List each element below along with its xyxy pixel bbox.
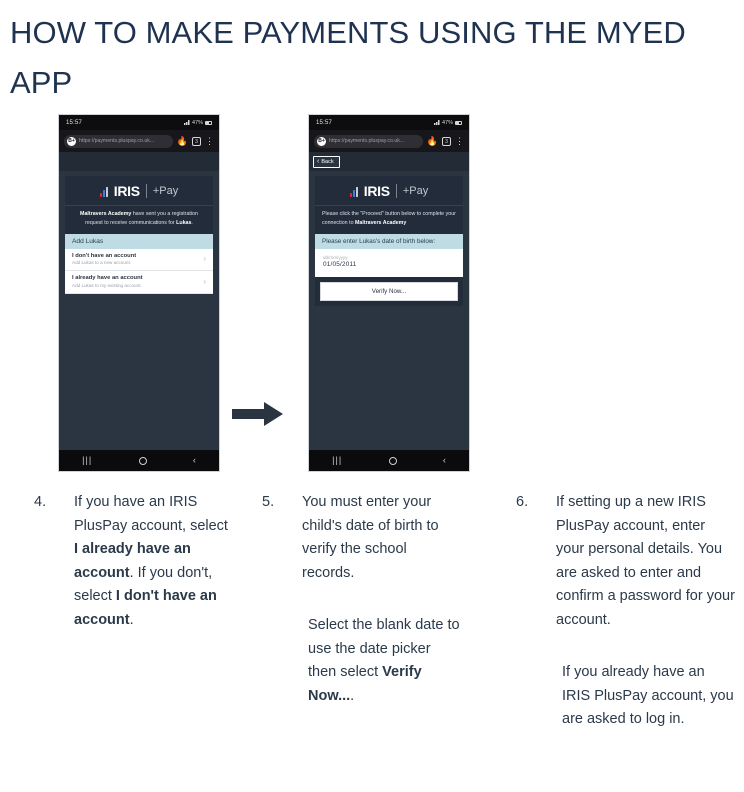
phone2-back-bar: ‹ Back	[309, 152, 469, 171]
caption-paragraph: Select the blank date to use the date pi…	[302, 614, 462, 708]
back-button-label: Back	[321, 159, 333, 165]
tab-count-icon[interactable]: 3	[442, 137, 451, 146]
caption-body: If you have an IRIS PlusPay account, sel…	[74, 491, 234, 632]
home-icon[interactable]	[139, 457, 147, 465]
caption-number: 4.	[34, 491, 74, 632]
phone1-notice-text: Maltravers Academy have sent you a regis…	[65, 205, 213, 233]
screenshot-figure-row: 15:57 47% B+ https://payments.pluspay.co…	[0, 114, 744, 479]
kebab-menu-icon[interactable]: ⋮	[455, 138, 464, 144]
dob-input-field[interactable]: dd/mm/yyyy 01/05/2011	[315, 249, 463, 277]
phone2-url-text: https://payments.pluspay.co.uk...	[329, 138, 404, 144]
phone2-notice-school: Maltravers Academy	[355, 220, 406, 226]
battery-icon	[205, 121, 212, 126]
list-item-subtitle: Add Lukas to a new account.	[72, 260, 136, 265]
captions-row: 4. If you have an IRIS PlusPay account, …	[0, 491, 744, 791]
flame-icon[interactable]: 🔥	[177, 137, 188, 146]
caption-text: .	[130, 612, 134, 628]
phone1-card: IRIS +Pay Maltravers Academy have sent y…	[65, 176, 213, 293]
caption-body: If setting up a new IRIS PlusPay account…	[556, 491, 736, 731]
phone1-spacer-bar	[59, 152, 219, 171]
logo-divider	[396, 184, 397, 198]
caption-number: 5.	[262, 491, 302, 708]
dob-prompt-label: Please enter Lukas's date of birth below…	[315, 234, 463, 249]
caption-paragraph: You must enter your child's date of birt…	[302, 491, 462, 585]
back-button[interactable]: ‹ Back	[313, 156, 340, 168]
phone-screenshot-2: 15:57 47% B+ https://payments.pluspay.co…	[308, 114, 470, 472]
iris-bars-icon	[350, 186, 358, 197]
list-item-no-account[interactable]: I don't have an account Add Lukas to a n…	[65, 249, 213, 272]
phone1-notice-child: Lukas	[176, 220, 191, 226]
phone2-android-nav-bar: ||| ‹	[309, 450, 469, 471]
back-icon[interactable]: ‹	[443, 456, 446, 465]
list-item-have-account[interactable]: I already have an account Add Lukas to m…	[65, 271, 213, 294]
tab-count-icon[interactable]: 3	[192, 137, 201, 146]
phone1-page-body: IRIS +Pay Maltravers Academy have sent y…	[59, 171, 219, 450]
caption-step-6: 6. If setting up a new IRIS PlusPay acco…	[516, 491, 736, 731]
signal-icon	[184, 120, 190, 125]
phone2-notice-text: Please click the "Proceed" button below …	[315, 205, 463, 233]
phone1-iris-logo: IRIS +Pay	[65, 176, 213, 205]
phone1-status-time: 15:57	[66, 120, 82, 126]
caption-body: You must enter your child's date of birt…	[302, 491, 462, 708]
recents-icon[interactable]: |||	[332, 456, 342, 465]
caption-number: 6.	[516, 491, 556, 731]
phone1-notice-end: .	[191, 220, 192, 226]
caption-text: If you already have an IRIS PlusPay acco…	[562, 664, 734, 727]
phone2-status-bar: 15:57 47%	[309, 115, 469, 130]
battery-icon	[455, 121, 462, 126]
phone1-notice-school: Maltravers Academy	[80, 211, 131, 217]
page-title: HOW TO MAKE PAYMENTS USING THE MYED APP	[0, 0, 690, 108]
logo-divider	[146, 184, 147, 198]
kebab-menu-icon[interactable]: ⋮	[205, 138, 214, 144]
phone1-android-nav-bar: ||| ‹	[59, 450, 219, 471]
caption-step-4: 4. If you have an IRIS PlusPay account, …	[34, 491, 234, 632]
verify-now-button[interactable]: Verify Now...	[320, 282, 458, 301]
home-icon[interactable]	[389, 457, 397, 465]
dob-value: 01/05/2011	[323, 261, 455, 268]
pluspay-wordmark: +Pay	[153, 185, 178, 197]
iris-wordmark: IRIS	[364, 183, 390, 199]
signal-icon	[434, 120, 440, 125]
site-favicon-icon: B+	[67, 137, 76, 146]
caption-text: If setting up a new IRIS PlusPay account…	[556, 494, 735, 627]
caption-step-5: 5. You must enter your child's date of b…	[262, 491, 462, 708]
phone2-battery-percent: 47%	[442, 120, 453, 126]
phone1-battery-percent: 47%	[192, 120, 203, 126]
list-item-title: I already have an account	[72, 275, 143, 281]
caption-paragraph: If you already have an IRIS PlusPay acco…	[556, 661, 736, 731]
caption-paragraph: If setting up a new IRIS PlusPay account…	[556, 491, 736, 632]
phone2-status-icons: 47%	[434, 120, 462, 126]
iris-wordmark: IRIS	[114, 183, 140, 199]
verify-button-container: Verify Now...	[315, 277, 463, 306]
iris-bars-icon	[100, 186, 108, 197]
caption-text: .	[350, 688, 354, 704]
right-arrow-icon	[232, 401, 284, 427]
phone2-browser-bar: B+ https://payments.pluspay.co.uk... 🔥 3…	[309, 130, 469, 152]
phone-screenshot-1: 15:57 47% B+ https://payments.pluspay.co…	[58, 114, 220, 472]
phone1-status-bar: 15:57 47%	[59, 115, 219, 130]
phone2-page-body: IRIS +Pay Please click the "Proceed" but…	[309, 171, 469, 450]
caption-paragraph: If you have an IRIS PlusPay account, sel…	[74, 491, 234, 632]
phone2-card: IRIS +Pay Please click the "Proceed" but…	[315, 176, 463, 305]
caption-text: If you have an IRIS PlusPay account, sel…	[74, 494, 228, 533]
caption-text: You must enter your child's date of birt…	[302, 494, 439, 580]
flame-icon[interactable]: 🔥	[427, 137, 438, 146]
phone2-iris-logo: IRIS +Pay	[315, 176, 463, 205]
pluspay-wordmark: +Pay	[403, 185, 428, 197]
site-favicon-icon: B+	[317, 137, 326, 146]
list-item-subtitle: Add Lukas to my existing account.	[72, 283, 143, 288]
chevron-right-icon: ›	[203, 255, 206, 263]
phone1-browser-bar: B+ https://payments.pluspay.co.uk... 🔥 3…	[59, 130, 219, 152]
phone2-url-field[interactable]: B+ https://payments.pluspay.co.uk...	[314, 135, 423, 148]
back-icon[interactable]: ‹	[193, 456, 196, 465]
dob-placeholder: dd/mm/yyyy	[323, 255, 455, 260]
phone2-status-time: 15:57	[316, 120, 332, 126]
phone1-status-icons: 47%	[184, 120, 212, 126]
phone1-url-field[interactable]: B+ https://payments.pluspay.co.uk...	[64, 135, 173, 148]
recents-icon[interactable]: |||	[82, 456, 92, 465]
phone1-url-text: https://payments.pluspay.co.uk...	[79, 138, 154, 144]
chevron-left-icon: ‹	[317, 158, 319, 165]
phone1-section-header: Add Lukas	[65, 234, 213, 249]
chevron-right-icon: ›	[203, 278, 206, 286]
list-item-title: I don't have an account	[72, 253, 136, 259]
